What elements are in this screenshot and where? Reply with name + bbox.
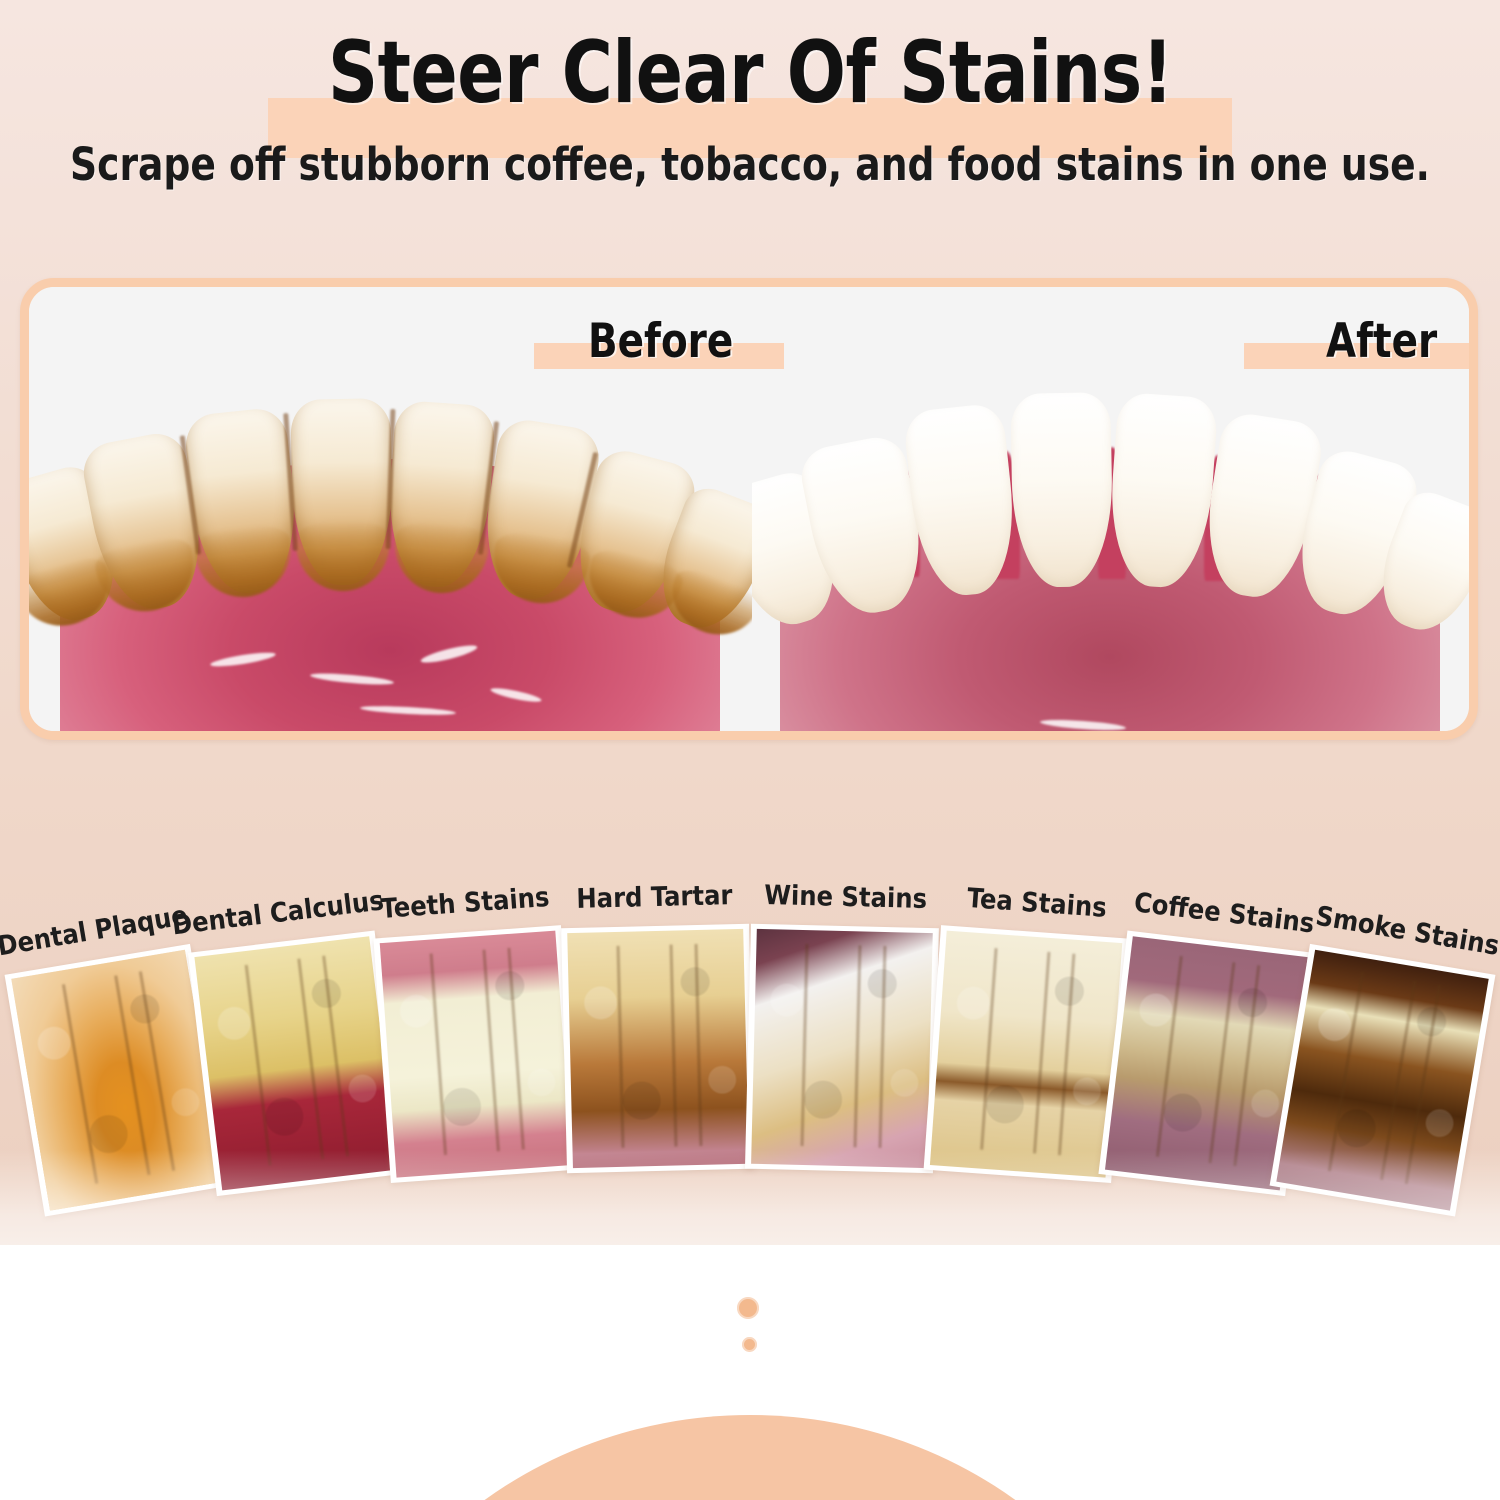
carousel-dot-1[interactable] xyxy=(737,1297,759,1319)
page-subtitle: Scrape off stubborn coffee, tobacco, and… xyxy=(53,138,1448,191)
product-infographic: Steer Clear Of Stains! Scrape off stubbo… xyxy=(0,0,1500,1500)
stain-type-photo-image xyxy=(567,929,749,1168)
before-label: Before xyxy=(534,309,746,375)
photo-texture-overlay xyxy=(194,936,397,1190)
before-after-card: Before After xyxy=(20,278,1478,740)
stain-type-photo xyxy=(745,924,939,1174)
after-mouth-illustration xyxy=(752,351,1469,731)
photo-texture-overlay xyxy=(930,931,1122,1178)
stain-type-photo-image xyxy=(194,936,397,1190)
carousel-dot-2[interactable] xyxy=(742,1337,757,1352)
after-label: After xyxy=(1244,309,1447,375)
stain-type-card[interactable]: Smoke Stains xyxy=(1317,900,1500,931)
before-label-text: Before xyxy=(588,309,733,375)
after-label-text: After xyxy=(1326,309,1437,375)
page-title: Steer Clear Of Stains! xyxy=(327,28,1172,118)
stain-type-photo xyxy=(188,931,404,1197)
photo-texture-overlay xyxy=(751,929,933,1168)
stain-type-photo xyxy=(373,925,578,1183)
stain-type-photo-image xyxy=(380,931,572,1178)
headline-block: Steer Clear Of Stains! xyxy=(0,28,1500,118)
before-mouth-illustration xyxy=(29,351,752,731)
stain-type-photo xyxy=(1270,944,1496,1217)
stain-type-photo-image xyxy=(751,929,933,1168)
stain-type-photo-image xyxy=(930,931,1122,1178)
photo-texture-overlay xyxy=(567,929,749,1168)
stain-type-photo-image xyxy=(1276,950,1488,1211)
stain-type-photo xyxy=(561,924,755,1174)
stain-type-fan: Dental PlaqueDental CalculusTeeth Stains… xyxy=(0,880,1500,1440)
stain-type-photo xyxy=(924,925,1129,1183)
photo-texture-overlay xyxy=(380,931,572,1178)
